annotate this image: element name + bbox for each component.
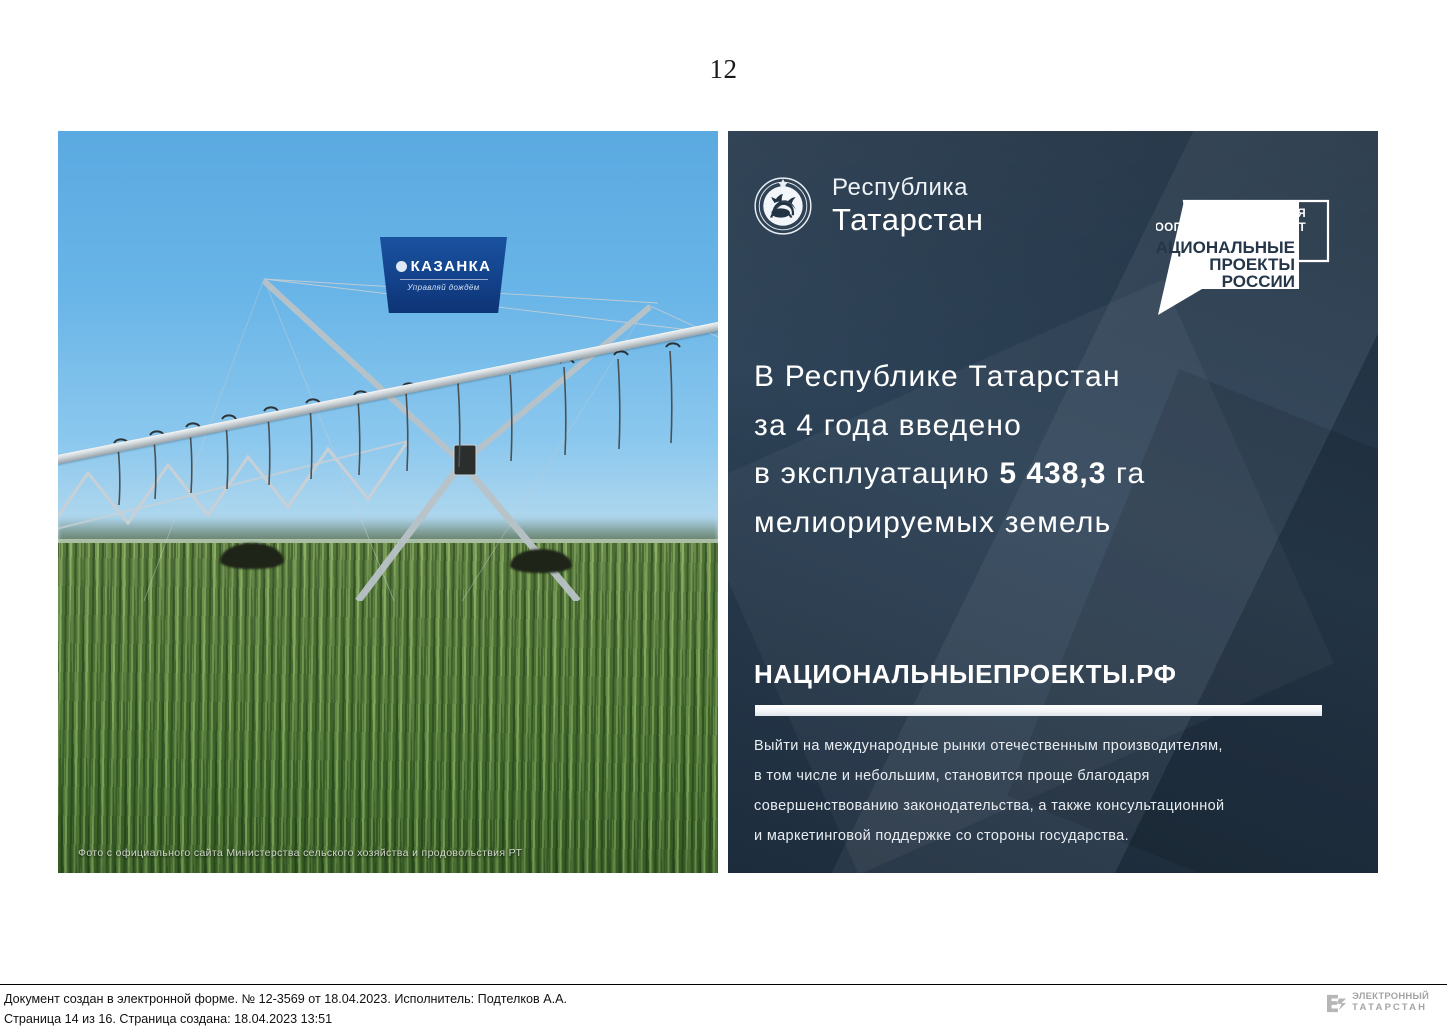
footer-line-2: Страница 14 из 16. Страница создана: 18.… [4,1010,567,1029]
panel-body-text: Выйти на международные рынки отечественн… [754,731,1352,852]
body-line-4: и маркетинговой поддержке со стороны гос… [754,821,1352,851]
national-projects-url[interactable]: НАЦИОНАЛЬНЫЕПРОЕКТЫ.РФ [754,659,1177,690]
electronic-tatarstan-logo: ЭЛЕКТРОННЫЙ ТАТАРСТАН [1326,992,1429,1013]
badge-main-line3: РОССИИ [1222,272,1295,291]
tatarstan-wordmark: Республика Татарстан [832,175,984,238]
national-projects-badge-icon: МЕЖДУНАРОДНАЯ КООПЕРАЦИЯ И ЭКСПОРТ НАЦИО… [1156,169,1334,321]
panel-header: Республика Татарстан МЕЖДУНАРОДНАЯ КООПЕ… [754,169,1358,319]
page-number: 12 [0,54,1447,85]
footer-logo-line2: ТАТАРСТАН [1352,1003,1429,1014]
slide-container: КАЗАНКА Управляй дождём Фото с официальн… [58,131,1378,873]
kazanka-sign-brand: КАЗАНКА [396,258,492,275]
photo-caption: Фото с официального сайта Министерства с… [78,847,522,859]
headline-line-3-post: га [1106,457,1145,490]
badge-top-line1: МЕЖДУНАРОДНАЯ [1192,208,1306,220]
kazanka-sign-rule [400,279,488,280]
body-line-3: совершенствованию законодательства, а та… [754,791,1352,821]
headline-line-4: мелиорируемых земель [754,499,1354,548]
badge-top-line2: КООПЕРАЦИЯ И ЭКСПОРТ [1156,222,1306,234]
url-divider [755,705,1322,716]
kazanka-sign-tagline: Управляй дождём [407,283,479,292]
kazanka-droplet-icon [396,261,407,272]
headline-line-2: за 4 года введено [754,402,1354,451]
tatarstan-wordmark-line2: Татарстан [832,203,984,238]
body-line-1: Выйти на международные рынки отечественн… [754,731,1352,761]
electronic-tatarstan-wordmark: ЭЛЕКТРОННЫЙ ТАТАРСТАН [1352,992,1429,1013]
panel-gutter [718,131,728,873]
footer-line-1: Документ создан в электронной форме. № 1… [4,990,567,1010]
footer-metadata: Документ создан в электронной форме. № 1… [4,990,567,1029]
info-panel: Республика Татарстан МЕЖДУНАРОДНАЯ КООПЕ… [728,131,1378,873]
headline-line-3-pre: в эксплуатацию [754,457,999,490]
tatarstan-emblem-icon [754,177,812,235]
kazanka-sign: КАЗАНКА Управляй дождём [380,237,507,313]
tatarstan-wordmark-line1: Республика [832,175,984,202]
headline-line-3: в эксплуатацию 5 438,3 га [754,450,1354,499]
headline-value: 5 438,3 [999,457,1106,490]
irrigation-photo: КАЗАНКА Управляй дождём Фото с официальн… [58,131,718,873]
tatarstan-branding: Республика Татарстан [754,175,984,238]
headline-line-1: В Республике Татарстан [754,353,1354,402]
body-line-2: в том числе и небольшим, становится прощ… [754,761,1352,791]
electronic-tatarstan-mark-icon [1326,993,1348,1013]
footer-divider [0,984,1447,985]
panel-headline: В Республике Татарстан за 4 года введено… [754,353,1354,547]
irrigation-truss-svg [58,131,718,601]
